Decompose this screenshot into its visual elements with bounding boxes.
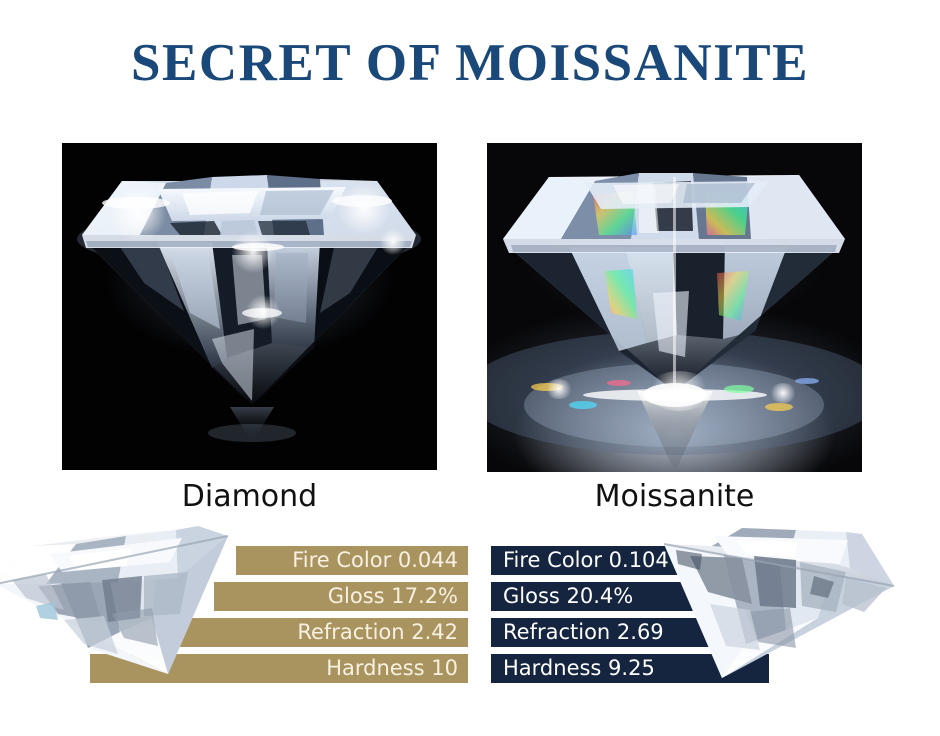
spec-text: Hardness 10 bbox=[326, 658, 458, 679]
spec-text: Fire Color 0.104 bbox=[503, 550, 669, 571]
diamond-photo-panel bbox=[62, 143, 437, 470]
diamond-gem-photo-illustration bbox=[62, 143, 437, 470]
moissanite-comparison-infographic: SECRET OF MOISSANITE bbox=[0, 0, 940, 736]
spec-row-gloss: Gloss 17.2% bbox=[214, 582, 468, 611]
spec-row-fire-color: Fire Color 0.044 bbox=[236, 546, 468, 575]
spec-row-refraction: Refraction 2.69 bbox=[491, 618, 757, 647]
spec-row-fire-color: Fire Color 0.104 bbox=[491, 546, 723, 575]
moissanite-spec-bars: Fire Color 0.104 Gloss 20.4% Refraction … bbox=[470, 546, 940, 688]
moissanite-gem-photo-illustration bbox=[487, 143, 862, 472]
spec-text: Hardness 9.25 bbox=[503, 658, 655, 679]
diamond-spec-bars: Fire Color 0.044 Gloss 17.2% Refraction … bbox=[0, 546, 470, 688]
caption-diamond: Diamond bbox=[62, 479, 437, 514]
spec-row-hardness: Hardness 9.25 bbox=[491, 654, 769, 683]
page-title: SECRET OF MOISSANITE bbox=[0, 36, 940, 92]
spec-text: Refraction 2.42 bbox=[297, 622, 458, 643]
moissanite-photo-panel bbox=[487, 143, 862, 472]
spec-row-refraction: Refraction 2.42 bbox=[150, 618, 468, 647]
spec-text: Gloss 17.2% bbox=[328, 586, 458, 607]
spec-text: Fire Color 0.044 bbox=[292, 550, 458, 571]
spec-text: Refraction 2.69 bbox=[503, 622, 664, 643]
spec-row-gloss: Gloss 20.4% bbox=[491, 582, 743, 611]
spec-text: Gloss 20.4% bbox=[503, 586, 633, 607]
caption-moissanite: Moissanite bbox=[487, 479, 862, 514]
spec-row-hardness: Hardness 10 bbox=[90, 654, 468, 683]
